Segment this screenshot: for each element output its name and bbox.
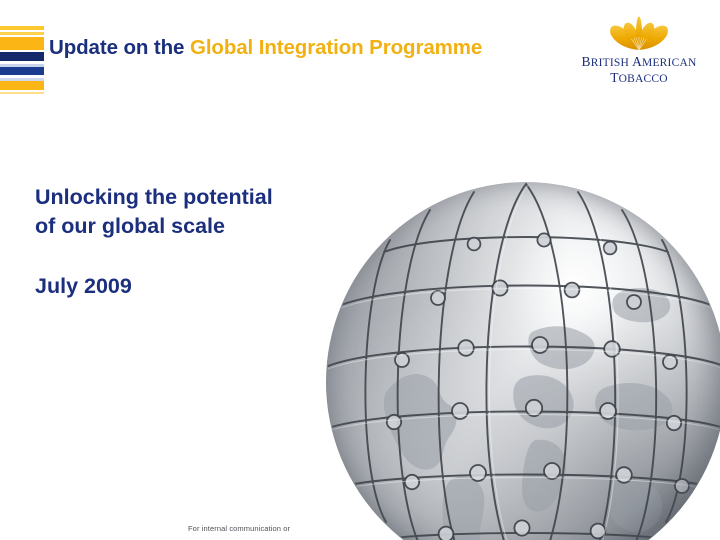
puzzle-globe-image (326, 182, 720, 540)
stripe-segment-4 (0, 37, 44, 50)
slide-date: July 2009 (35, 274, 132, 299)
bat-text-obacco: OBACCO (619, 73, 668, 85)
bat-wordmark-line-1: BRITISH AMERICAN (580, 54, 698, 70)
slide-title-main: Update on the (49, 36, 190, 59)
slide-headline: Unlocking the potential of our global sc… (35, 183, 365, 240)
stripe-segment-6 (0, 52, 44, 61)
slide-title: Update on the Global Integration Program… (49, 36, 589, 60)
bat-text-ritish: RITISH (591, 57, 632, 69)
slide-header: Update on the Global Integration Program… (0, 0, 720, 110)
bat-leaf-emblem (608, 16, 670, 52)
stripe-segment-9 (0, 67, 44, 75)
bat-wordmark: BRITISH AMERICAN TOBACCO (580, 54, 698, 86)
bat-wordmark-line-2: TOBACCO (580, 70, 698, 86)
globe-sphere (326, 182, 720, 540)
presentation-slide: Update on the Global Integration Program… (0, 0, 720, 540)
bat-cap-a: A (632, 54, 642, 69)
bat-cap-t: T (610, 70, 618, 85)
bat-cap-b: B (582, 54, 591, 69)
stripe-segment-12 (0, 81, 44, 90)
slide-title-accent: Global Integration Programme (190, 36, 482, 59)
headline-line-1: Unlocking the potential (35, 183, 365, 212)
stripe-segment-14 (0, 92, 44, 94)
footer-disclaimer: For internal communication or (188, 524, 290, 533)
bat-text-merican: MERICAN (642, 57, 696, 69)
british-american-tobacco-logo: BRITISH AMERICAN TOBACCO (580, 16, 698, 86)
bat-stripe-bar (0, 26, 44, 94)
headline-line-2: of our global scale (35, 212, 365, 241)
